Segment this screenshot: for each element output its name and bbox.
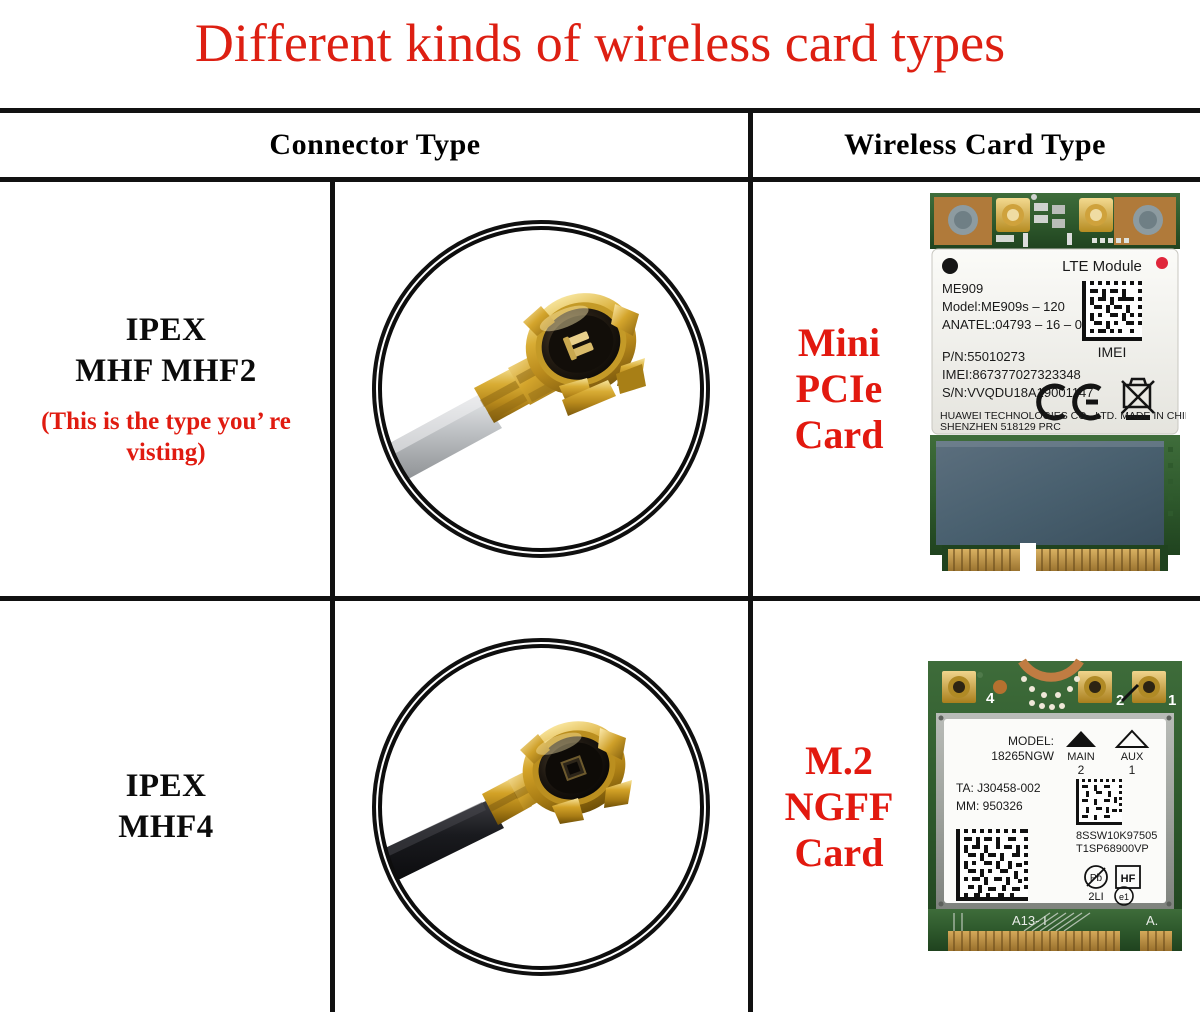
- svg-text:IMEI: IMEI: [1098, 344, 1127, 360]
- row1-divider-2: [748, 182, 753, 596]
- svg-text:AUX: AUX: [1121, 751, 1144, 763]
- row1-connector-name-line1: IPEX: [75, 310, 256, 351]
- table-row: IPEX MHF MHF2 (This is the type you’ re …: [0, 182, 1200, 596]
- row2-divider-1: [330, 601, 335, 1012]
- m2-ngff-card-photo: 4 2 1: [924, 657, 1186, 957]
- header-connector-type: Connector Type: [0, 113, 750, 177]
- mini-pcie-card-photo: LTE Module ME909 Model:ME909s – 120 ANAT…: [924, 189, 1186, 589]
- ufl-connector-right: [1079, 198, 1113, 232]
- svg-text:A13- I: A13- I: [1012, 913, 1047, 928]
- row1-connector-note: (This is the type you’ re visting): [0, 406, 332, 468]
- row1-divider-1: [330, 182, 335, 596]
- svg-text:T1SP68900VP: T1SP68900VP: [1076, 843, 1149, 855]
- table-header-row: Connector Type Wireless Card Type: [0, 113, 1200, 177]
- large-datamatrix: [956, 829, 1028, 901]
- m2-ngff-card-label: M.2 NGFF Card: [754, 738, 924, 876]
- svg-text:TA: J30458-002: TA: J30458-002: [956, 781, 1041, 795]
- row1-connector-name-line2: MHF MHF2: [75, 351, 256, 392]
- svg-text:S/N:VVQDU18A19001147: S/N:VVQDU18A19001147: [942, 385, 1094, 400]
- row2-card-cell: M.2 NGFF Card: [750, 601, 1200, 1012]
- svg-text:Model:ME909s – 120: Model:ME909s – 120: [942, 299, 1065, 314]
- row2-connector-name-line2: MHF4: [118, 807, 213, 848]
- svg-text:IMEI:867377027323348: IMEI:867377027323348: [942, 367, 1081, 382]
- row1-connector-name: IPEX MHF MHF2: [75, 310, 256, 392]
- row1-connector-photo-cell: [332, 182, 750, 596]
- svg-text:SHENZHEN 518129 PRC: SHENZHEN 518129 PRC: [940, 421, 1061, 433]
- row2-divider-2: [748, 601, 753, 1012]
- header-connector-type-label: Connector Type: [269, 128, 480, 162]
- svg-text:8SSW10K97505: 8SSW10K97505: [1076, 830, 1157, 842]
- svg-text:MODEL:: MODEL:: [1008, 734, 1054, 748]
- svg-text:HF: HF: [1121, 873, 1136, 885]
- row2-connector-photo-cell: [332, 601, 750, 1012]
- svg-text:18265NGW: 18265NGW: [991, 749, 1054, 763]
- svg-text:MM: 950326: MM: 950326: [956, 799, 1023, 813]
- sticker-red-dot: [1156, 257, 1168, 269]
- ufl-connector-left: [996, 198, 1030, 232]
- svg-text:P/N:55010273: P/N:55010273: [942, 349, 1025, 364]
- row1-connector-label-cell: IPEX MHF MHF2 (This is the type you’ re …: [0, 182, 332, 596]
- imei-datamatrix: [1082, 281, 1142, 341]
- svg-text:1: 1: [1168, 692, 1176, 709]
- mini-pcie-card-label: Mini PCIe Card: [754, 320, 924, 458]
- wireless-card-comparison-table: Connector Type Wireless Card Type IPEX M…: [0, 108, 1200, 1012]
- svg-text:1: 1: [1129, 763, 1136, 777]
- svg-text:MAIN: MAIN: [1067, 751, 1095, 763]
- svg-text:ME909: ME909: [942, 281, 983, 296]
- header-column-divider: [748, 113, 753, 177]
- row1-card-cell: Mini PCIe Card: [750, 182, 1200, 596]
- gold-fingers-left: [948, 549, 1020, 571]
- row2-connector-name: IPEX MHF4: [118, 766, 213, 848]
- svg-text:e1: e1: [1119, 892, 1129, 902]
- row2-connector-label-cell: IPEX MHF4: [0, 601, 332, 1012]
- header-wireless-card-type-label: Wireless Card Type: [844, 128, 1106, 162]
- svg-text:2: 2: [1078, 763, 1085, 777]
- small-datamatrix: [1076, 779, 1122, 825]
- svg-text:4: 4: [986, 690, 995, 707]
- page-title: Different kinds of wireless card types: [0, 0, 1200, 72]
- ipex-mhf4-connector-photo: [372, 638, 710, 976]
- table-row: IPEX MHF4: [0, 601, 1200, 1012]
- ipex-mhf2-connector-photo: [372, 220, 710, 558]
- header-wireless-card-type: Wireless Card Type: [750, 113, 1200, 177]
- svg-text:LTE Module: LTE Module: [1062, 258, 1142, 275]
- row2-connector-name-line1: IPEX: [118, 766, 213, 807]
- svg-text:A.: A.: [1146, 913, 1158, 928]
- svg-text:2LI: 2LI: [1088, 891, 1103, 903]
- sticker-black-dot: [942, 258, 958, 274]
